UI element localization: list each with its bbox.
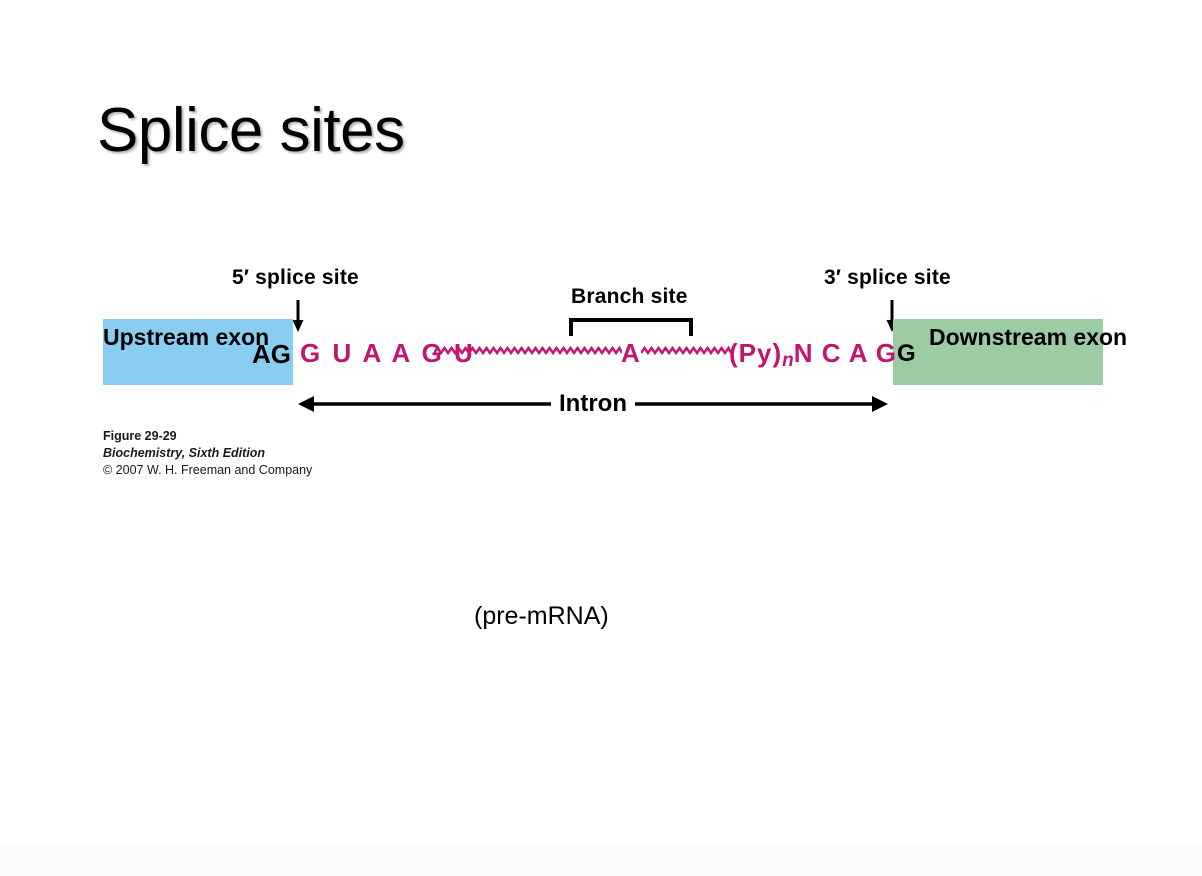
upstream-exon-label: Upstream exon — [103, 325, 251, 349]
three-prime-splice-site-label: 3′ splice site — [824, 266, 951, 290]
polypyrimidine-tract-label: (Py) — [729, 338, 782, 368]
branch-site-bracket — [569, 318, 693, 336]
caption-source-book: Biochemistry, Sixth Edition — [103, 445, 312, 462]
acceptor-site-sequence: (Py)nN C A G — [729, 338, 897, 372]
downstream-exon-label: Downstream exon — [929, 325, 1103, 349]
figure-caption: Figure 29-29 Biochemistry, Sixth Edition… — [103, 428, 312, 479]
five-prime-splice-site-label: 5′ splice site — [232, 266, 359, 290]
bottom-band — [0, 846, 1202, 876]
downstream-exon-box: Downstream exon — [893, 319, 1103, 385]
branch-site-label: Branch site — [571, 285, 688, 309]
slide-canvas: Splice sites 5′ splice site 3′ splice si… — [0, 0, 1202, 876]
splice-site-figure: 5′ splice site 3′ splice site Branch sit… — [0, 0, 1202, 876]
intron-squiggle-left — [434, 345, 622, 361]
branch-point-base: A — [621, 338, 640, 369]
pre-mrna-label: (pre-mRNA) — [474, 602, 609, 631]
polypyrimidine-tract-subscript: n — [782, 350, 794, 371]
downstream-exon-start-base: G — [897, 340, 916, 368]
upstream-exon-end-bases: AG — [252, 339, 291, 370]
caption-copyright: © 2007 W. H. Freeman and Company — [103, 462, 312, 480]
intron-squiggle-right — [641, 345, 731, 361]
caption-figure-number: Figure 29-29 — [103, 428, 312, 445]
acceptor-site-bases: N C A G — [794, 338, 897, 368]
intron-label: Intron — [551, 390, 635, 418]
